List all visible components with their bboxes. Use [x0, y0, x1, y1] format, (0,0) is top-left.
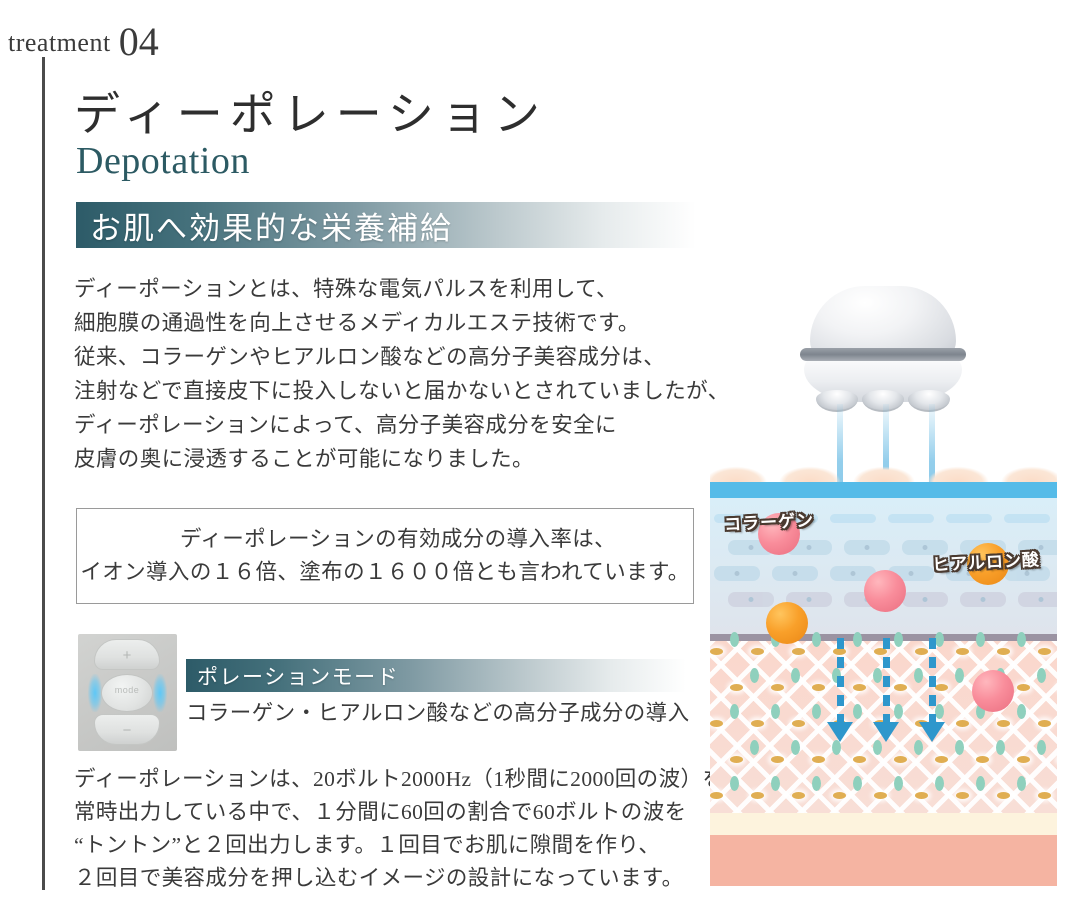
collagen-sphere [864, 570, 906, 612]
collagen-fiber-node [955, 740, 964, 755]
device-band [800, 348, 966, 361]
dermis-cell-nucleus [1038, 648, 1051, 655]
dermis-cell-nucleus [730, 684, 743, 691]
epidermis-cell-nucleus [981, 597, 986, 602]
collagen-fiber-node [894, 704, 903, 719]
dermis-cell-nucleus [956, 720, 969, 727]
collagen-fiber-node [894, 776, 903, 791]
dermis-cell-nucleus [730, 756, 743, 763]
collagen-fiber-node [730, 632, 739, 647]
collagen-fiber-node [955, 668, 964, 683]
epidermis-cell [902, 592, 948, 607]
epidermis-cell-nucleus [749, 545, 754, 550]
collagen-fiber-node [812, 632, 821, 647]
dermis-cell-nucleus [710, 648, 723, 655]
collagen-fiber-node [750, 740, 759, 755]
dermis-cell-nucleus [792, 648, 805, 655]
efficacy-ratio-box: ディーポレーションの有効成分の導入率は、 イオン導入の１６倍、塗布の１６００倍と… [76, 508, 694, 604]
dermis-cell-nucleus [894, 684, 907, 691]
dermis-cell-nucleus [710, 792, 723, 799]
mode-glow-right-icon [153, 674, 167, 712]
epidermis-cell-nucleus [923, 597, 928, 602]
dermis-cell-nucleus [915, 648, 928, 655]
epidermis-cell-nucleus [793, 571, 798, 576]
dermis-cell-nucleus [812, 756, 825, 763]
dermis-cell-nucleus [771, 684, 784, 691]
specification-paragraph: ディーポレーションは、20ボルト2000Hz（1秒間に2000回の波）を 常時出… [74, 763, 734, 895]
dermis-cell-nucleus [997, 720, 1010, 727]
dermis-cell-nucleus [1017, 756, 1030, 763]
collagen-fiber-node [1017, 776, 1026, 791]
dermis-cell-nucleus [792, 792, 805, 799]
collagen-fiber-node [873, 740, 882, 755]
collagen-fiber-node [976, 632, 985, 647]
collagen-fiber-node [935, 632, 944, 647]
mode-heading-banner-label: ポレーションモード [197, 661, 399, 691]
epidermis-cell-nucleus [807, 545, 812, 550]
dermis-cell-nucleus [894, 756, 907, 763]
collagen-fiber-node [894, 632, 903, 647]
page-title-jp: ディーポレーション [74, 78, 547, 144]
hypodermis-layer [710, 835, 1057, 886]
collagen-fiber-node [1017, 632, 1026, 647]
epidermis-cell [946, 514, 992, 523]
skin-surface-layer [710, 452, 1057, 482]
dermis-cell-nucleus [874, 792, 887, 799]
collagen-fiber-node [914, 668, 923, 683]
collagen-fiber-node [1037, 668, 1046, 683]
dermis-cell-nucleus [956, 792, 969, 799]
penetration-arrow-shaft [883, 638, 890, 724]
dermis-cell-nucleus [1038, 792, 1051, 799]
collagen-fiber-node [771, 704, 780, 719]
epidermis-cell [844, 540, 890, 555]
epidermis-cell-nucleus [909, 571, 914, 576]
treatment-eyebrow-number: 04 [119, 19, 159, 64]
dermis-cell-nucleus [997, 648, 1010, 655]
epidermis-cell [728, 592, 774, 607]
dermis-cell-nucleus [771, 756, 784, 763]
page-title-en: Depotation [76, 139, 250, 183]
collagen-fiber-node [1017, 704, 1026, 719]
dermis-cell-nucleus [997, 792, 1010, 799]
epidermis-cell [960, 592, 1006, 607]
dermis-cell-nucleus [1038, 720, 1051, 727]
dermis-cell-nucleus [812, 684, 825, 691]
collagen-fiber-node [853, 776, 862, 791]
epidermis-cell-nucleus [1039, 597, 1044, 602]
collagen-fiber-node [853, 632, 862, 647]
dermis-cell-nucleus [792, 720, 805, 727]
subcutaneous-transition-layer [710, 813, 1057, 835]
penetration-arrow-head [919, 722, 945, 742]
penetration-arrow-head [827, 722, 853, 742]
epidermis-cell [1004, 514, 1050, 523]
minus-icon: − [95, 715, 159, 746]
dermis-cell-nucleus [976, 756, 989, 763]
dermis-cell-nucleus [833, 792, 846, 799]
epidermis-cell-nucleus [865, 545, 870, 550]
dermis-cell-nucleus [751, 720, 764, 727]
efficacy-ratio-line-1: ディーポレーションの有効成分の導入率は、 [77, 523, 693, 556]
skin-penetration-illustration: コラーゲン ヒアルロン酸 [710, 286, 1057, 886]
device-minus-button[interactable]: − [94, 714, 160, 745]
plus-icon: + [95, 640, 159, 671]
hyaluronic-sphere [766, 602, 808, 644]
collagen-fiber-node [771, 776, 780, 791]
device-head-icon [788, 286, 978, 411]
epidermis-cell [1018, 592, 1057, 607]
collagen-fiber-node [914, 740, 923, 755]
collagen-fiber-node [935, 776, 944, 791]
collagen-fiber-node [812, 776, 821, 791]
collagen-fiber-node [730, 704, 739, 719]
dermis-cell-nucleus [956, 648, 969, 655]
epidermis-cell [714, 566, 760, 581]
treatment-eyebrow: treatment04 [8, 18, 159, 65]
epidermis-cell [772, 566, 818, 581]
epidermis-cell-nucleus [851, 571, 856, 576]
epidermis-cell-nucleus [749, 597, 754, 602]
mode-glow-left-icon [88, 674, 102, 712]
dermis-cell-nucleus [853, 684, 866, 691]
mode-heading-banner: ポレーションモード [186, 659, 686, 692]
collagen-fiber-node [730, 776, 739, 791]
skin-cross-section: コラーゲン ヒアルロン酸 [710, 452, 1057, 886]
collagen-fiber-node [996, 740, 1005, 755]
dermis-cell-nucleus [751, 648, 764, 655]
epidermis-cell-nucleus [807, 597, 812, 602]
dermis-cell-nucleus [751, 792, 764, 799]
dermis-cell-nucleus [710, 720, 723, 727]
device-control-pad: + mode − [78, 634, 177, 751]
section-heading-banner: お肌へ効果的な栄養補給 [76, 202, 696, 248]
dermis-cell-nucleus [915, 792, 928, 799]
collagen-fiber-node [1037, 740, 1046, 755]
intro-paragraph: ディーポーションとは、特殊な電気パルスを利用して、 細胞膜の通過性を向上させるメ… [74, 272, 764, 476]
stratum-corneum-layer [710, 482, 1057, 498]
dermis-cell-nucleus [935, 756, 948, 763]
penetration-arrow [883, 638, 890, 758]
penetration-arrow [929, 638, 936, 758]
collagen-fiber-node [976, 776, 985, 791]
efficacy-ratio-line-2: イオン導入の１６倍、塗布の１６００倍とも言われています。 [77, 556, 693, 589]
collagen-sphere [972, 670, 1014, 712]
collagen-fiber-node [812, 704, 821, 719]
dermis-cell-nucleus [1017, 684, 1030, 691]
device-mode-button[interactable]: mode [101, 674, 153, 712]
device-mode-button-label: mode [102, 685, 152, 695]
dermis-cell-nucleus [853, 756, 866, 763]
collagen-fiber-node [853, 704, 862, 719]
epidermis-cell [888, 514, 934, 523]
mode-description: コラーゲン・ヒアルロン酸などの高分子成分の導入 [186, 697, 690, 729]
collagen-fiber-node [935, 704, 944, 719]
vertical-accent-rule [42, 57, 45, 890]
section-heading-banner-label: お肌へ効果的な栄養補給 [90, 203, 453, 248]
penetration-arrow-shaft [837, 638, 844, 724]
treatment-eyebrow-word: treatment [8, 28, 111, 57]
epidermis-cell-nucleus [735, 571, 740, 576]
collagen-fiber-node [750, 668, 759, 683]
collagen-fiber-node [873, 668, 882, 683]
penetration-arrow-shaft [929, 638, 936, 724]
penetration-arrow-head [873, 722, 899, 742]
epidermis-cell-nucleus [1025, 571, 1030, 576]
collagen-fiber-node [791, 740, 800, 755]
dermis-cell-nucleus [935, 684, 948, 691]
epidermis-cell [830, 514, 876, 523]
device-plus-button[interactable]: + [94, 639, 160, 670]
collagen-label: コラーゲン [723, 506, 814, 536]
epidermis-cell-nucleus [923, 545, 928, 550]
penetration-arrow [837, 638, 844, 758]
collagen-fiber-node [791, 668, 800, 683]
